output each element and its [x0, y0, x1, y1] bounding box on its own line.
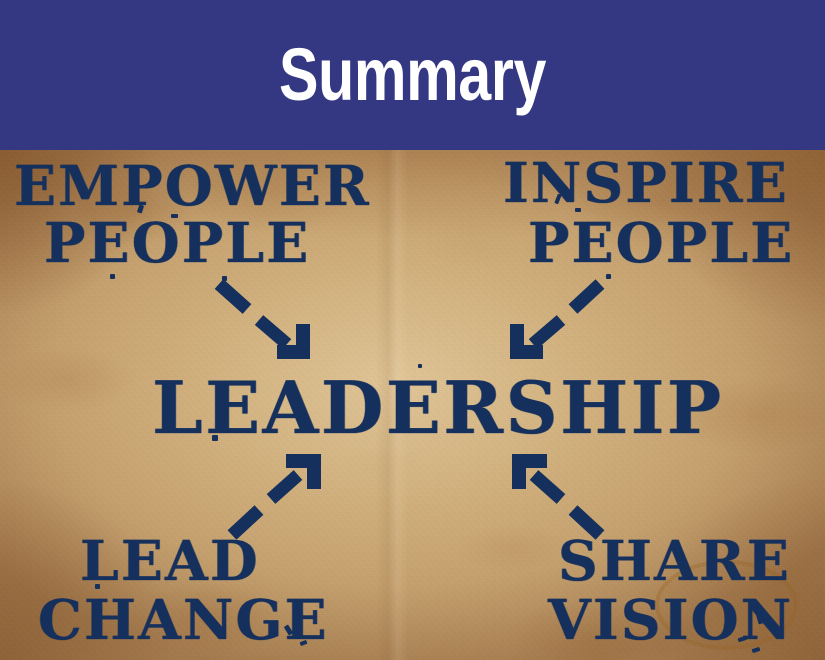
branch-empower-line2: PEOPLE	[44, 215, 310, 270]
center-label-leadership: LEADERSHIP	[152, 372, 724, 444]
branch-lead-change-line2: CHANGE	[38, 592, 329, 647]
ink-speck	[171, 214, 178, 218]
ink-speck	[418, 364, 422, 368]
ink-speck	[575, 208, 581, 212]
ink-speck	[606, 274, 611, 279]
branch-lead-change-line1: LEAD	[80, 533, 260, 588]
branch-inspire-line2: PEOPLE	[528, 215, 794, 270]
summary-slide: Summary EMPOWER PEOPLE INSPIRE PEOPLE LE…	[0, 0, 825, 660]
ink-speck	[110, 274, 115, 279]
ink-speck	[95, 584, 100, 589]
dashed-arrow-up-right-icon	[228, 445, 338, 540]
dashed-arrow-up-left-icon	[495, 445, 605, 540]
branch-inspire-line1: INSPIRE	[503, 155, 789, 210]
ink-speck	[222, 276, 227, 281]
branch-empower-line1: EMPOWER	[14, 158, 371, 213]
dashed-arrow-down-right-icon	[215, 280, 325, 370]
branch-share-vision-line1: SHARE	[558, 533, 791, 588]
header-band: Summary	[0, 0, 825, 150]
ink-speck	[212, 435, 218, 441]
page-title: Summary	[83, 0, 743, 150]
dashed-arrow-down-left-icon	[495, 280, 605, 370]
